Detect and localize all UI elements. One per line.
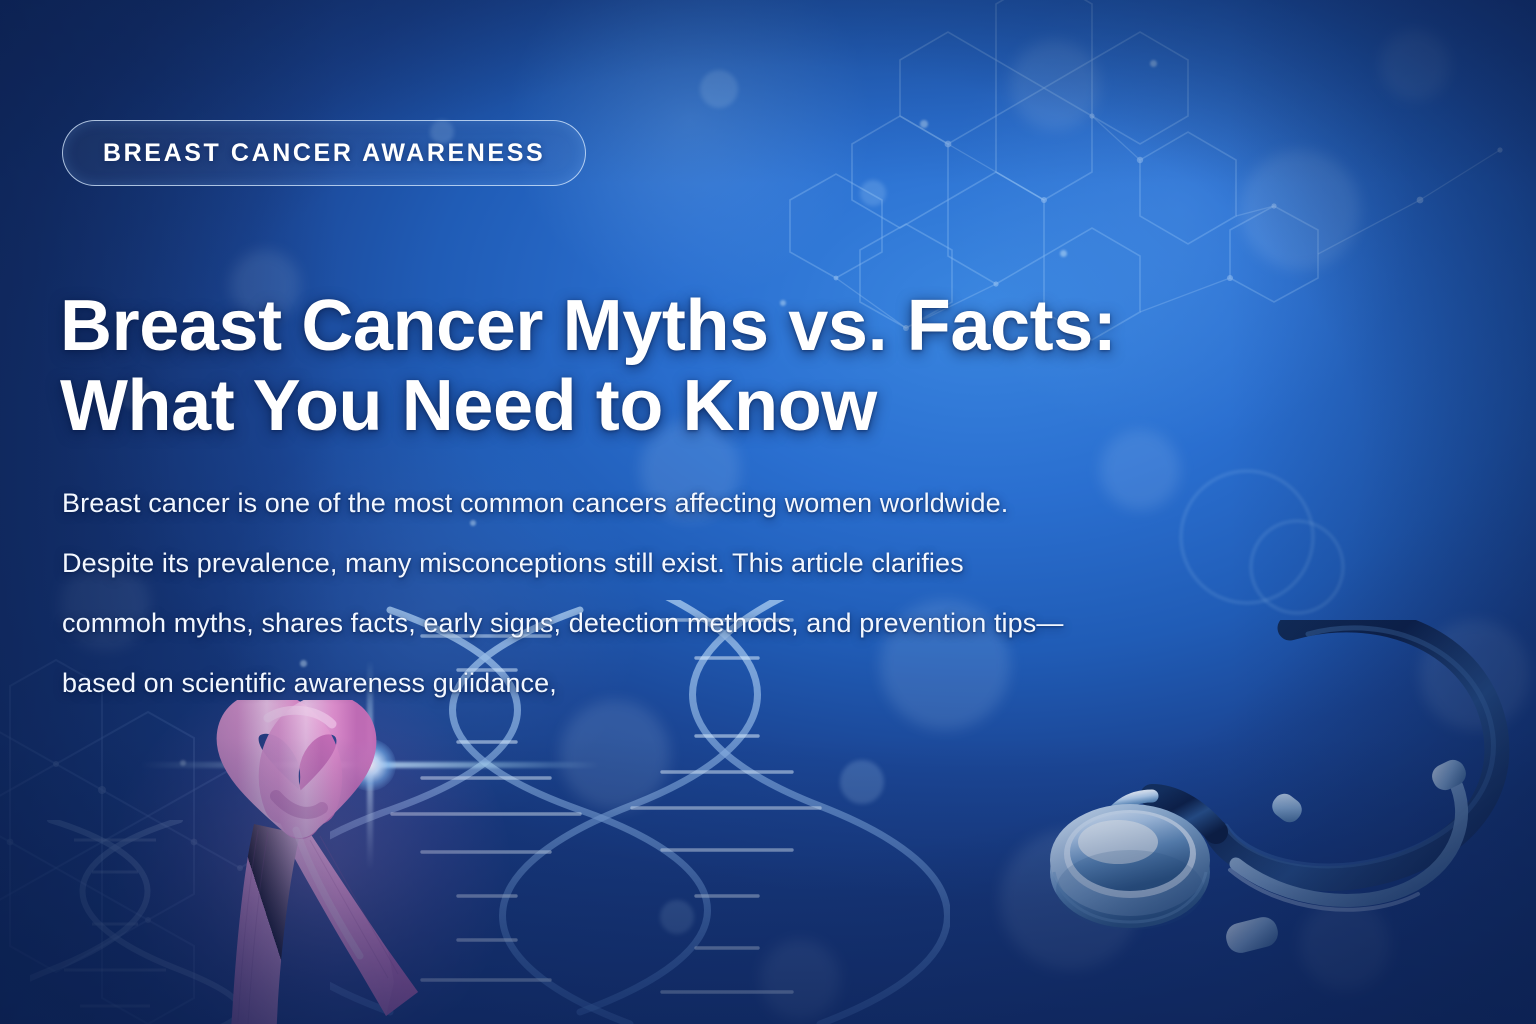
intro-paragraph: Breast cancer is one of the most common … bbox=[62, 473, 1392, 713]
intro-paragraph-line-2: Despite its prevalence, many misconcepti… bbox=[62, 533, 1392, 593]
page-title-line-1: Breast Cancer Myths vs. Facts: bbox=[60, 286, 1240, 366]
hero-content: BREAST CANCER AWARENESS Breast Cancer My… bbox=[0, 0, 1536, 1024]
page-title-line-2: What You Need to Know bbox=[60, 366, 1240, 446]
page-title: Breast Cancer Myths vs. Facts: What You … bbox=[60, 286, 1240, 446]
intro-paragraph-line-1: Breast cancer is one of the most common … bbox=[62, 473, 1392, 533]
intro-paragraph-line-3: commoh myths, shares facts, early signs,… bbox=[62, 593, 1392, 653]
intro-paragraph-line-4: based on scientific awareness guiidance, bbox=[62, 653, 1392, 713]
awareness-badge[interactable]: BREAST CANCER AWARENESS bbox=[62, 120, 586, 186]
hero-banner: BREAST CANCER AWARENESS Breast Cancer My… bbox=[0, 0, 1536, 1024]
awareness-badge-label: BREAST CANCER AWARENESS bbox=[103, 139, 545, 168]
